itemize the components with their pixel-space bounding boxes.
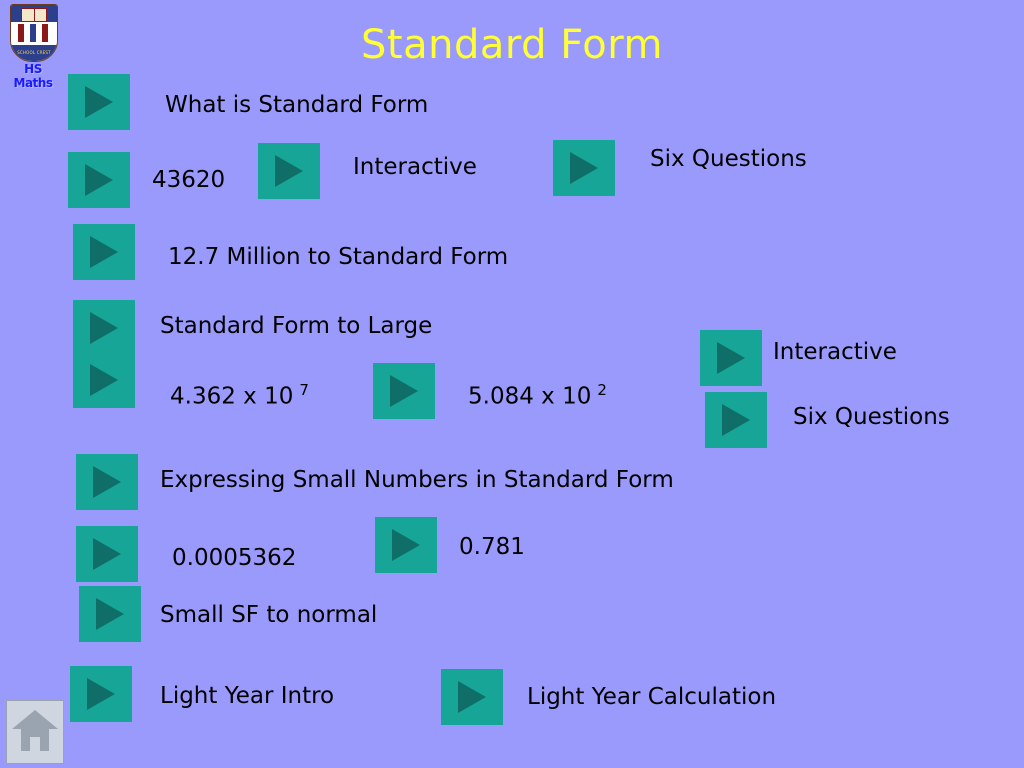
label-interactive-2: Interactive bbox=[773, 339, 897, 365]
label-light-year-calculation: Light Year Calculation bbox=[527, 684, 776, 710]
play-button-expressing-small-numbers[interactable] bbox=[76, 454, 138, 510]
play-button-light-year-calculation[interactable] bbox=[441, 669, 503, 725]
play-button-four-point-three-six-two[interactable] bbox=[73, 352, 135, 408]
exponent-five-point-zero-eight-four: 2 bbox=[597, 381, 607, 399]
label-what-is-standard-form: What is Standard Form bbox=[165, 92, 428, 118]
play-button-what-is-standard-form[interactable] bbox=[68, 74, 130, 130]
play-button-twelve-point-seven-million[interactable] bbox=[73, 224, 135, 280]
play-triangle-icon bbox=[96, 598, 124, 630]
label-43620: 43620 bbox=[152, 167, 225, 193]
home-icon-roof bbox=[12, 710, 58, 729]
home-icon-door bbox=[30, 737, 40, 751]
label-four-point-three-six-two: 4.362 x 107 bbox=[170, 381, 309, 410]
slide: SCHOOL CREST HS Maths Standard Form What… bbox=[0, 0, 1024, 768]
play-triangle-icon bbox=[392, 529, 420, 561]
label-five-point-zero-eight-four: 5.084 x 102 bbox=[468, 381, 607, 410]
play-button-light-year-intro[interactable] bbox=[70, 666, 132, 722]
label-zero-point-zero-zero-zero-five-three-six-two: 0.0005362 bbox=[172, 545, 296, 571]
page-title: Standard Form bbox=[0, 22, 1024, 68]
play-button-six-questions-1[interactable] bbox=[553, 140, 615, 196]
play-triangle-icon bbox=[90, 364, 118, 396]
label-zero-point-seven-eight-one: 0.781 bbox=[459, 534, 525, 560]
play-triangle-icon bbox=[90, 312, 118, 344]
label-small-sf-to-normal: Small SF to normal bbox=[160, 602, 377, 628]
label-six-questions-1: Six Questions bbox=[650, 146, 807, 172]
play-button-six-questions-2[interactable] bbox=[705, 392, 767, 448]
play-triangle-icon bbox=[90, 236, 118, 268]
label-standard-form-to-large: Standard Form to Large bbox=[160, 313, 432, 339]
play-button-43620[interactable] bbox=[68, 152, 130, 208]
label-light-year-intro: Light Year Intro bbox=[160, 683, 334, 709]
label-six-questions-2: Six Questions bbox=[793, 404, 950, 430]
play-button-interactive-1[interactable] bbox=[258, 143, 320, 199]
play-triangle-icon bbox=[85, 86, 113, 118]
play-triangle-icon bbox=[570, 152, 598, 184]
play-button-interactive-2[interactable] bbox=[700, 330, 762, 386]
play-triangle-icon bbox=[717, 342, 745, 374]
play-button-standard-form-to-large[interactable] bbox=[73, 300, 135, 356]
play-button-small-sf-to-normal[interactable] bbox=[79, 586, 141, 642]
crest-top-band bbox=[11, 5, 57, 22]
play-button-zero-point-zero-zero-zero-five-three-six-two[interactable] bbox=[76, 526, 138, 582]
play-triangle-icon bbox=[722, 404, 750, 436]
home-button[interactable] bbox=[6, 700, 64, 764]
play-triangle-icon bbox=[390, 375, 418, 407]
play-triangle-icon bbox=[85, 164, 113, 196]
play-button-zero-point-seven-eight-one[interactable] bbox=[375, 517, 437, 573]
play-triangle-icon bbox=[87, 678, 115, 710]
exponent-four-point-three-six-two: 7 bbox=[299, 381, 309, 399]
play-triangle-icon bbox=[275, 155, 303, 187]
play-triangle-icon bbox=[93, 538, 121, 570]
book-icon bbox=[21, 8, 47, 22]
label-interactive-1: Interactive bbox=[353, 154, 477, 180]
label-twelve-point-seven-million: 12.7 Million to Standard Form bbox=[168, 244, 508, 270]
play-triangle-icon bbox=[93, 466, 121, 498]
play-button-five-point-zero-eight-four[interactable] bbox=[373, 363, 435, 419]
play-triangle-icon bbox=[458, 681, 486, 713]
label-expressing-small-numbers: Expressing Small Numbers in Standard For… bbox=[160, 467, 674, 493]
